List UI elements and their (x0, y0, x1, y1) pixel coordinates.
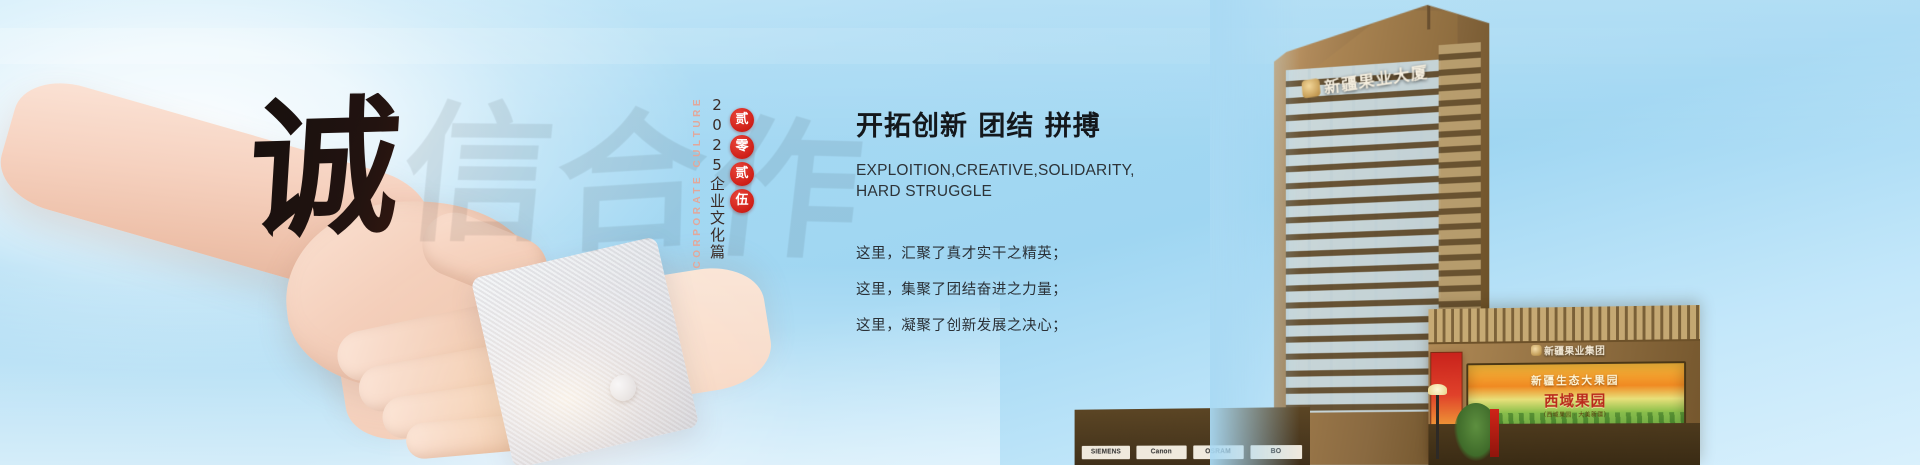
seal-icon-1: 贰 (730, 108, 754, 132)
shop-sign-3: OSRAM (1193, 445, 1244, 459)
calligraphy-char-1: 诚 (244, 79, 409, 259)
slogan-body-line-2: 这里，集聚了团结奋进之力量； (856, 278, 1196, 299)
slogan-headline: 开拓创新 团结 拼搏 (856, 104, 1196, 143)
shop-sign-2: Canon (1137, 445, 1187, 459)
group-logo-icon (1531, 345, 1542, 356)
vertical-text-column: 2025企业文化篇 CORPORATE CULTURE (692, 96, 728, 306)
vertical-chinese-label: 2025企业文化篇 (707, 96, 728, 261)
slogan-subhead: EXPLOITION,CREATIVE,SOLIDARITY, HARD STR… (856, 160, 1196, 203)
slogan-text-block: 开拓创新 团结 拼搏 EXPLOITION,CREATIVE,SOLIDARIT… (856, 104, 1196, 350)
street-shops: SIEMENS Canon OSRAM BO (1075, 407, 1310, 465)
year-seal-stack: 贰 零 贰 伍 (730, 108, 754, 213)
building-photo: 新疆果业大厦 新疆果业集团 新疆生态大果园 西域果园 （西域果园 · 大美新疆）… (1240, 0, 1700, 465)
led-billboard-title: 新疆生态大果园 (1531, 372, 1619, 389)
podium-brand: 新疆果业集团 (1531, 342, 1606, 358)
slogan-body-line-3: 这里，凝聚了创新发展之决心； (856, 314, 1196, 335)
podium-roof (1428, 305, 1700, 344)
street-lamp-icon (1436, 393, 1439, 459)
slogan-subhead-line-2: HARD STRUGGLE (856, 181, 1196, 202)
shop-sign-1: SIEMENS (1082, 446, 1130, 460)
led-billboard-subtitle: （西域果园 · 大美新疆） (1540, 409, 1610, 418)
podium-brand-text: 新疆果业集团 (1544, 342, 1605, 358)
shop-sign-4: BO (1250, 445, 1302, 459)
tower-window-grid (1286, 59, 1441, 412)
calligraphy-char-3: 合 (555, 103, 713, 262)
street-banner-flag (1490, 409, 1499, 457)
roof-mast (1427, 0, 1430, 30)
seal-icon-4: 伍 (730, 189, 754, 213)
company-logo-icon (1301, 78, 1321, 99)
slogan-body: 这里，汇聚了真才实干之精英； 这里，集聚了团结奋进之力量； 这里，凝聚了创新发展… (856, 242, 1196, 335)
slogan-subhead-line-1: EXPLOITION,CREATIVE,SOLIDARITY, (856, 160, 1196, 181)
calligraphy-char-2: 信 (396, 99, 564, 250)
corporate-culture-banner: 诚信合作 2025企业文化篇 CORPORATE CULTURE 贰 零 贰 伍… (0, 0, 1920, 465)
vertical-english-label: CORPORATE CULTURE (692, 96, 703, 268)
seal-icon-3: 贰 (730, 162, 754, 186)
slogan-body-line-1: 这里，汇聚了真才实干之精英； (856, 242, 1196, 263)
seal-icon-2: 零 (730, 135, 754, 159)
led-billboard-logo: 西域果园 (1544, 390, 1606, 411)
calligraphy-title: 诚信合作 (245, 80, 871, 246)
